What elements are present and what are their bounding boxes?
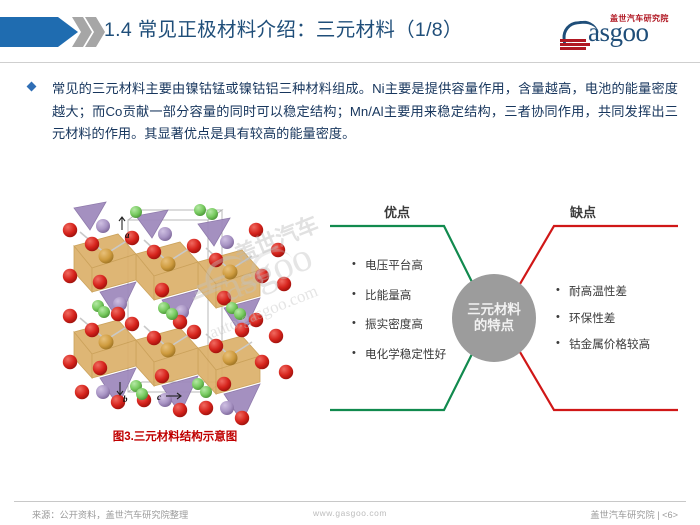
header-divider: [0, 62, 700, 63]
list-item: 环保性差: [556, 311, 686, 327]
cons-heading: 缺点: [570, 202, 596, 221]
page-title: 1.4 常见正极材料介绍：三元材料（1/8）: [104, 13, 463, 42]
axis-label-b: b: [123, 394, 128, 404]
list-item: 钴金属价格较高: [556, 337, 686, 353]
body-bullet-block: 常见的三元材料主要由镍钴锰或镍钴铝三种材料组成。Ni主要是提供容量作用，含量越高…: [28, 78, 678, 146]
footer-page-info: 盖世汽车研究院 | <6>: [590, 507, 678, 521]
logo-wordmark: asgoo: [588, 19, 649, 46]
center-ellipse-label: 三元材料的特点: [466, 302, 522, 334]
pros-cons-diagram: 优点 缺点 电压平台高 比能量高 振实密度高 电化学稳定性好 耐高温性差 环保性…: [318, 196, 690, 436]
list-item: 振实密度高: [352, 317, 468, 333]
pros-heading: 优点: [384, 202, 410, 221]
footer-divider: [14, 501, 686, 502]
logo-bar-icon-1: [560, 39, 586, 42]
gasgoo-logo: 盖世汽车研究院 asgoo: [558, 12, 686, 54]
crystal-structure-illustration: a b c: [40, 196, 310, 428]
list-item: 电压平台高: [352, 258, 468, 274]
slide-footer: 来源：公开资料，盖世汽车研究院整理 www.gasgoo.com 盖世汽车研究院…: [0, 504, 700, 525]
axis-label-a: a: [125, 230, 130, 240]
cons-list: 耐高温性差 环保性差 钴金属价格较高: [556, 284, 686, 364]
pros-list: 电压平台高 比能量高 振实密度高 电化学稳定性好: [352, 258, 468, 377]
center-ellipse: 三元材料的特点: [452, 274, 536, 362]
logo-bar-icon-2: [560, 43, 590, 46]
slide-root: 1.4 常见正极材料介绍：三元材料（1/8） 盖世汽车研究院 asgoo 常见的…: [0, 0, 700, 525]
diamond-bullet-icon: [27, 82, 37, 92]
header-arrow-blue: [0, 17, 78, 47]
figure-caption: 图3.三元材料结构示意图: [40, 428, 310, 444]
axis-label-c: c: [157, 392, 161, 402]
logo-bar-icon-3: [560, 47, 586, 50]
crystal-structure-figure: a b c: [40, 196, 310, 428]
body-paragraph: 常见的三元材料主要由镍钴锰或镍钴铝三种材料组成。Ni主要是提供容量作用，含量越高…: [52, 78, 678, 146]
list-item: 耐高温性差: [556, 284, 686, 300]
list-item: 比能量高: [352, 288, 468, 304]
list-item: 电化学稳定性好: [352, 347, 468, 363]
